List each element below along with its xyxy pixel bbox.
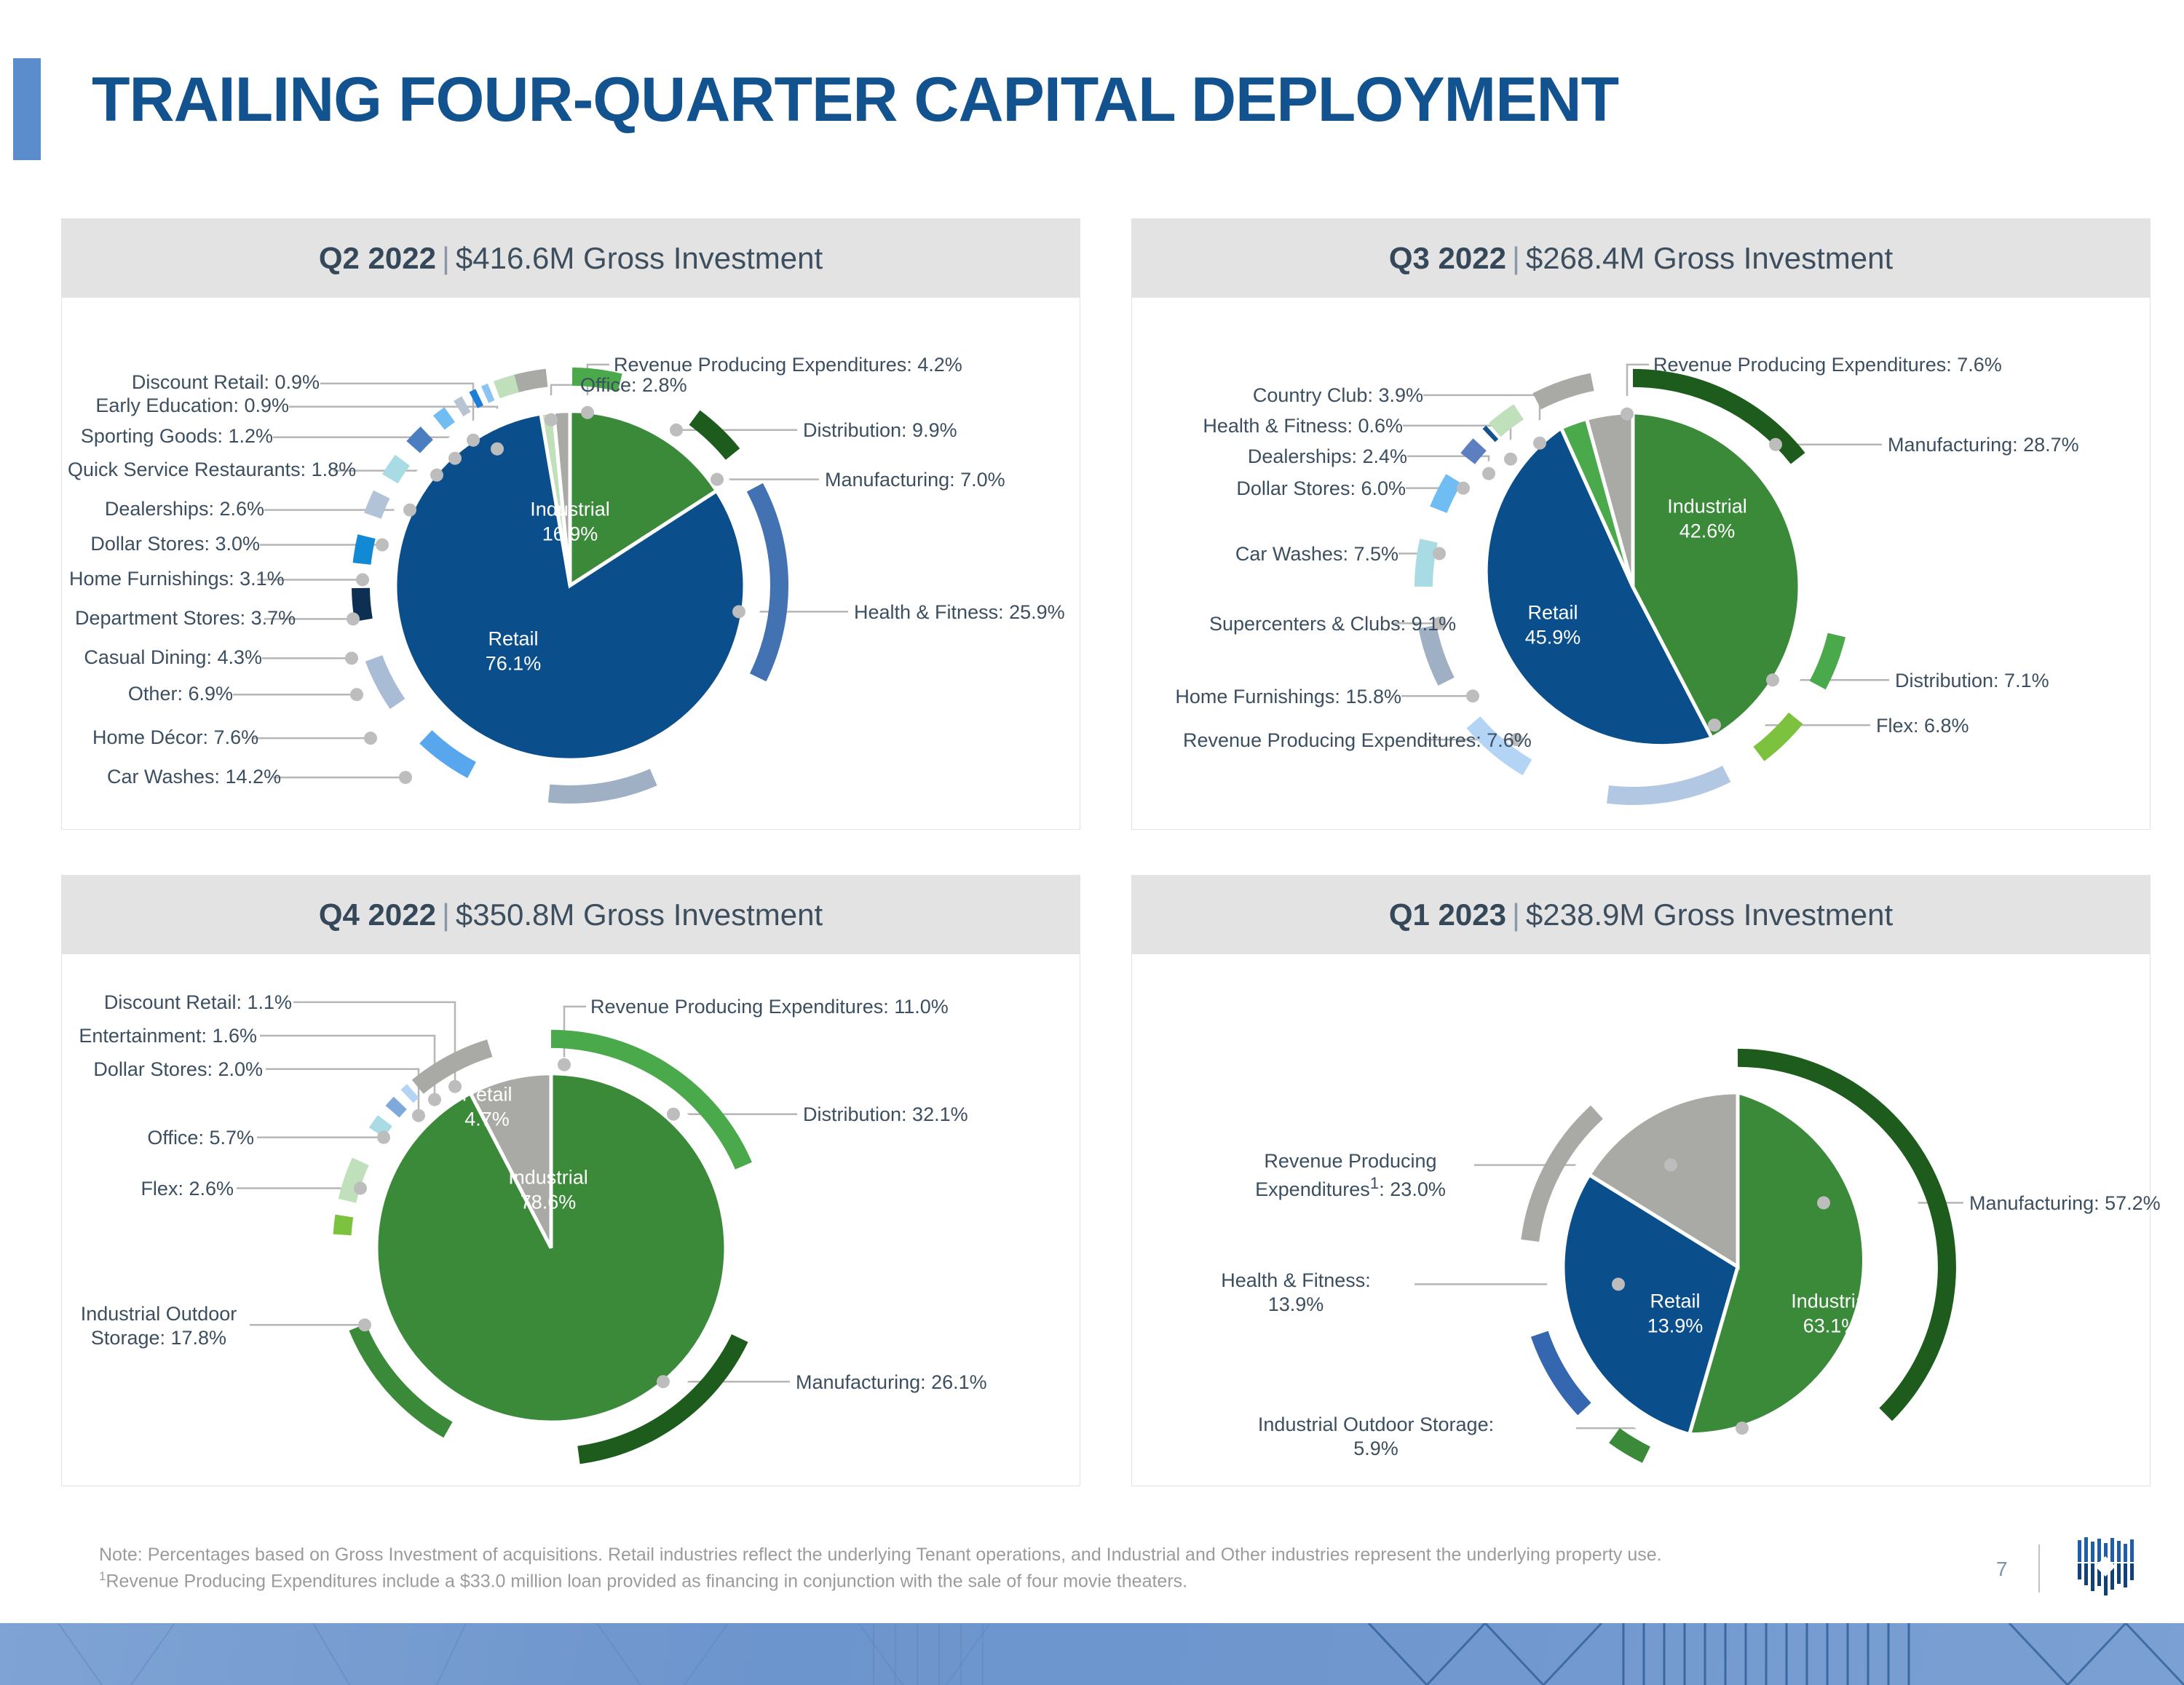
outer-label-supercenters-clubs-q3: Home Furnishings: 15.8% xyxy=(1147,685,1401,709)
panel-gross-q2-2022: $416.6M Gross Investment xyxy=(456,241,823,275)
outer-label-health-fitness-q2: Health & Fitness: 25.9% xyxy=(854,600,1065,625)
footnote-line-2-text: Revenue Producing Expenditures include a… xyxy=(106,1571,1187,1592)
chart-panel-q3-2022: Q3 2022|$268.4M Gross Investment xyxy=(1131,218,2151,830)
panel-gross-q1-2023: $238.9M Gross Investment xyxy=(1526,897,1893,932)
outer-label-dealerships-q3: Dealerships: 2.4% xyxy=(1196,445,1407,469)
chart-panel-q2-2022: Q2 2022|$416.6M Gross Investment xyxy=(61,218,1080,830)
inner-slice-value-retail-q3: 45.9% xyxy=(1525,626,1581,648)
panel-quarter-q1-2023: Q1 2023 xyxy=(1389,897,1506,932)
outer-label-manufacturing-q3: Manufacturing: 28.7% xyxy=(1888,433,2079,457)
outer-label-other-q2: Other: 6.9% xyxy=(102,682,233,706)
panel-header-q3-2022: Q3 2022|$268.4M Gross Investment xyxy=(1132,219,2150,298)
outer-label-distribution-q2: Distribution: 9.9% xyxy=(803,419,957,443)
inner-slice-label-industrial-q4: Industrial xyxy=(508,1167,588,1189)
outer-label-manufacturing-q2: Manufacturing: 7.0% xyxy=(825,468,1005,492)
outer-label-home-furnishings-q3: Revenue Producing Expenditures: 7.6% xyxy=(1183,729,1426,753)
inner-slice-label-industrial-q1: Industrial xyxy=(1791,1290,1871,1312)
outer-label-rpe-q2: Revenue Producing Expenditures: 4.2% xyxy=(614,353,962,377)
outer-label-industrial-outdoor-storage-q4: Industrial OutdoorStorage: 17.8% xyxy=(69,1302,248,1350)
inner-slice-value-industrial-q3: 42.6% xyxy=(1679,520,1736,542)
panel-gross-q3-2022: $268.4M Gross Investment xyxy=(1526,241,1893,275)
outer-label-car-washes-q3: Supercenters & Clubs: 9.1% xyxy=(1209,612,1391,636)
outer-label-dollar-stores-q3: Car Washes: 7.5% xyxy=(1202,542,1398,566)
outer-label-rpe-q3: Revenue Producing Expenditures: 7.6% xyxy=(1653,353,2002,377)
outer-label-discount-retail-q2: Discount Retail: 0.9% xyxy=(76,370,320,395)
panel-title-separator: | xyxy=(1512,897,1520,932)
outer-label-health-fitness-q1: Health & Fitness:13.9% xyxy=(1176,1269,1416,1317)
panel-title-q3-2022: Q3 2022|$268.4M Gross Investment xyxy=(1389,241,1893,276)
outer-label-office-q2: Office: 2.8% xyxy=(580,373,687,397)
panel-title-separator: | xyxy=(1512,241,1520,275)
inner-slice-label-retail-q4: Retail xyxy=(462,1084,512,1106)
inner-slice-value-industrial-q2: 16.9% xyxy=(542,523,598,545)
outer-label-sporting-goods-q2: Sporting Goods: 1.2% xyxy=(76,424,273,448)
page-title: TRAILING FOUR-QUARTER CAPITAL DEPLOYMENT xyxy=(92,64,1618,136)
panel-body-q2-2022: Industrial 16.9% Retail 76.1% Discount R… xyxy=(62,298,1080,829)
panel-quarter-q3-2022: Q3 2022 xyxy=(1389,241,1506,275)
inner-slice-label-industrial-q2: Industrial xyxy=(530,499,610,520)
outer-label-casual-dining-q2: Casual Dining: 4.3% xyxy=(80,646,262,670)
panel-body-q1-2023: Industrial 63.1% Retail 13.9% Revenue Pr… xyxy=(1132,954,2150,1486)
inner-slice-label-retail-q3: Retail xyxy=(1528,601,1578,623)
footnote-line-2: 1Revenue Producing Expenditures include … xyxy=(99,1568,2021,1595)
outer-label-dollar-stores-q4: Dollar Stores: 2.0% xyxy=(76,1058,263,1082)
outer-label-early-education-q2: Early Education: 0.9% xyxy=(76,394,289,418)
panel-title-separator: | xyxy=(442,241,450,275)
outer-label-rpe-q1: Revenue ProducingExpenditures1: 23.0% xyxy=(1227,1149,1474,1202)
outer-label-flex-q3: Flex: 6.8% xyxy=(1876,714,1969,738)
outer-label-country-club-q3: Country Club: 3.9% xyxy=(1190,384,1423,408)
outer-label-home-furnishings-q2: Home Furnishings: 3.1% xyxy=(69,567,257,591)
page-number: 7 xyxy=(1996,1558,2008,1581)
panel-header-q2-2022: Q2 2022|$416.6M Gross Investment xyxy=(62,219,1080,298)
panel-gross-q4-2022: $350.8M Gross Investment xyxy=(456,897,823,932)
outer-label-manufacturing-q1: Manufacturing: 57.2% xyxy=(1969,1192,2161,1216)
panel-title-q2-2022: Q2 2022|$416.6M Gross Investment xyxy=(319,241,823,276)
inner-slice-value-retail-q2: 76.1% xyxy=(486,652,542,674)
outer-label-office-q4: Office: 5.7% xyxy=(106,1126,254,1150)
inner-pie-q2-2022 xyxy=(395,411,745,760)
panel-header-q4-2022: Q4 2022|$350.8M Gross Investment xyxy=(62,876,1080,954)
panel-quarter-q2-2022: Q2 2022 xyxy=(319,241,436,275)
company-logo-icon xyxy=(2068,1537,2148,1603)
inner-slice-label-industrial-q3: Industrial xyxy=(1667,496,1747,518)
inner-slice-value-industrial-q1: 63.1% xyxy=(1803,1315,1859,1336)
panel-title-q4-2022: Q4 2022|$350.8M Gross Investment xyxy=(319,897,823,932)
outer-label-flex-q4: Flex: 2.6% xyxy=(113,1177,234,1201)
inner-slice-value-industrial-q4: 78.6% xyxy=(521,1192,577,1213)
outer-label-car-washes-q2: Car Washes: 14.2% xyxy=(107,765,273,789)
panel-body-q4-2022: Industrial 78.6% Retail 4.7% Discount Re… xyxy=(62,954,1080,1486)
donut-chart-q1-2023: Industrial 63.1% Retail 13.9% xyxy=(1132,954,2150,1486)
inner-slice-value-retail-q1: 13.9% xyxy=(1647,1315,1704,1336)
outer-label-discount-retail-q4: Discount Retail: 1.1% xyxy=(76,991,292,1015)
footer-decorative-band xyxy=(0,1623,2184,1685)
footnote-line-1: Note: Percentages based on Gross Investm… xyxy=(99,1542,2021,1568)
outer-label-rpe-q4: Revenue Producing Expenditures: 11.0% xyxy=(590,995,949,1019)
page-divider xyxy=(2038,1545,2040,1593)
title-accent-bar xyxy=(13,58,41,160)
outer-label-home-decor-q2: Home Décor: 7.6% xyxy=(92,726,253,750)
inner-slice-label-retail-q2: Retail xyxy=(488,627,538,649)
chart-panel-q1-2023: Q1 2023|$238.9M Gross Investment xyxy=(1131,875,2151,1486)
panel-quarter-q4-2022: Q4 2022 xyxy=(319,897,436,932)
chart-panel-q4-2022: Q4 2022|$350.8M Gross Investment xyxy=(61,875,1080,1486)
slide-root: TRAILING FOUR-QUARTER CAPITAL DEPLOYMENT… xyxy=(0,0,2184,1685)
inner-slice-label-retail-q1: Retail xyxy=(1650,1290,1700,1312)
inner-pie-q4-2022 xyxy=(376,1074,726,1422)
outer-label-dollar-stores-q2: Dollar Stores: 3.0% xyxy=(76,532,260,556)
outer-label-health-fitness-q3: Health & Fitness: 0.6% xyxy=(1176,414,1403,438)
outer-label-department-stores-q2: Department Stores: 3.7% xyxy=(75,606,264,630)
inner-slice-value-retail-q4: 4.7% xyxy=(464,1109,510,1130)
panel-body-q3-2022: Industrial 42.6% Retail 45.9% Country Cl… xyxy=(1132,298,2150,829)
outer-label-entertainment-q4: Entertainment: 1.6% xyxy=(69,1024,257,1048)
outer-label-dealerships-q2: Dealerships: 2.6% xyxy=(76,497,264,521)
panel-title-separator: | xyxy=(442,897,450,932)
footnote-block: Note: Percentages based on Gross Investm… xyxy=(99,1542,2021,1595)
panel-title-q1-2023: Q1 2023|$238.9M Gross Investment xyxy=(1389,897,1893,932)
panel-header-q1-2023: Q1 2023|$238.9M Gross Investment xyxy=(1132,876,2150,954)
outer-label-quick-service-restaurants-q2: Quick Service Restaurants: 1.8% xyxy=(68,458,333,482)
outer-label-drug-stores-q3: Dollar Stores: 6.0% xyxy=(1202,477,1406,501)
outer-label-distribution-q3: Distribution: 7.1% xyxy=(1895,669,2049,693)
outer-label-manufacturing-q4: Manufacturing: 26.1% xyxy=(796,1371,987,1395)
outer-label-distribution-q4: Distribution: 32.1% xyxy=(803,1103,968,1127)
outer-label-industrial-outdoor-storage-q1: Industrial Outdoor Storage:5.9% xyxy=(1176,1413,1576,1461)
